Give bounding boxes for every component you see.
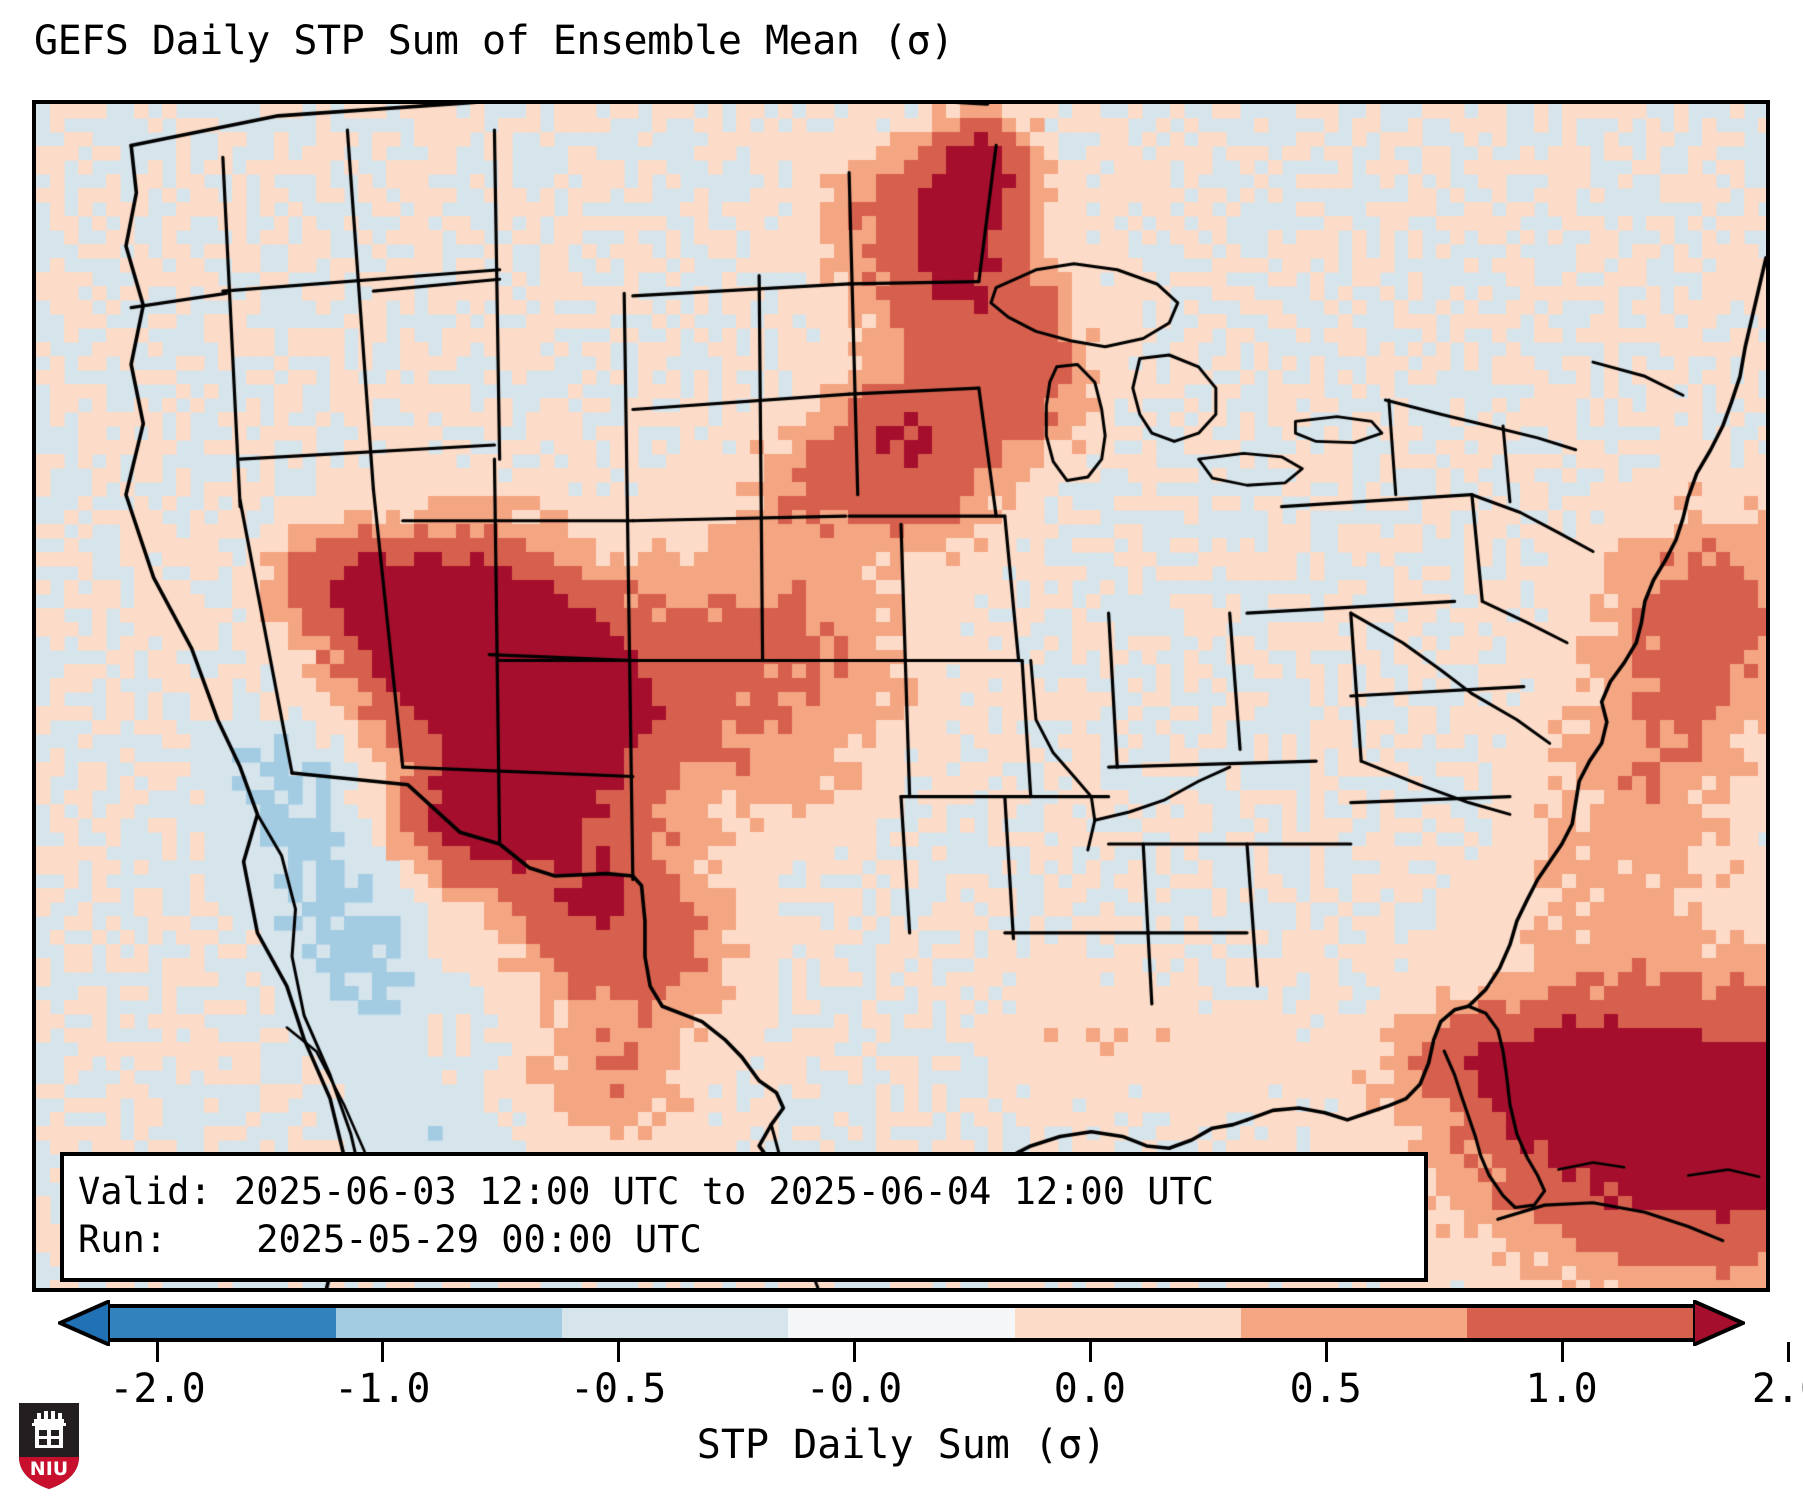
colorbar-tick-0 <box>156 1342 159 1362</box>
colorbar-tick-1 <box>381 1342 384 1362</box>
colorbar-tick-6 <box>1561 1342 1564 1362</box>
colorbar-tick-label-5: 0.5 <box>1290 1366 1362 1412</box>
colorbar-over-arrow <box>1693 1300 1745 1346</box>
colorbar-tick-7 <box>1787 1342 1790 1362</box>
colorbar-segment-0 <box>110 1308 336 1338</box>
colorbar-tick-5 <box>1325 1342 1328 1362</box>
map-panel[interactable] <box>32 100 1770 1292</box>
colorbar: -2.0-1.0-0.5-0.00.00.51.02.0 STP Daily S… <box>0 1304 1803 1504</box>
colorbar-tick-3 <box>853 1342 856 1362</box>
colorbar-tick-label-2: -0.5 <box>570 1366 666 1412</box>
colorbar-segment-6 <box>1467 1308 1693 1338</box>
forecast-info-box: Valid: 2025-06-03 12:00 UTC to 2025-06-0… <box>60 1152 1428 1282</box>
colorbar-tick-label-7: 2.0 <box>1752 1366 1803 1412</box>
colorbar-tick-label-4: 0.0 <box>1054 1366 1126 1412</box>
niu-logo-text: NIU <box>30 1458 68 1480</box>
colorbar-gradient <box>110 1304 1693 1342</box>
valid-time-line: Valid: 2025-06-03 12:00 UTC to 2025-06-0… <box>78 1168 1410 1216</box>
colorbar-segment-4 <box>1015 1308 1241 1338</box>
colorbar-segment-2 <box>562 1308 788 1338</box>
colorbar-tick-label-0: -2.0 <box>109 1366 205 1412</box>
niu-logo-icon: NIU <box>18 1402 80 1490</box>
colorbar-segment-5 <box>1241 1308 1467 1338</box>
colorbar-tick-label-6: 1.0 <box>1525 1366 1597 1412</box>
colorbar-tick-label-1: -1.0 <box>334 1366 430 1412</box>
colorbar-label: STP Daily Sum (σ) <box>0 1422 1803 1468</box>
colorbar-segment-1 <box>336 1308 562 1338</box>
page-title: GEFS Daily STP Sum of Ensemble Mean (σ) <box>34 18 954 64</box>
run-time-line: Run: 2025-05-29 00:00 UTC <box>78 1216 1410 1264</box>
colorbar-tick-label-3: -0.0 <box>806 1366 902 1412</box>
colorbar-segment-3 <box>788 1308 1014 1338</box>
colorbar-under-arrow <box>58 1300 110 1346</box>
stp-heatmap-canvas <box>36 104 1766 1288</box>
colorbar-tick-2 <box>617 1342 620 1362</box>
colorbar-tick-4 <box>1089 1342 1092 1362</box>
